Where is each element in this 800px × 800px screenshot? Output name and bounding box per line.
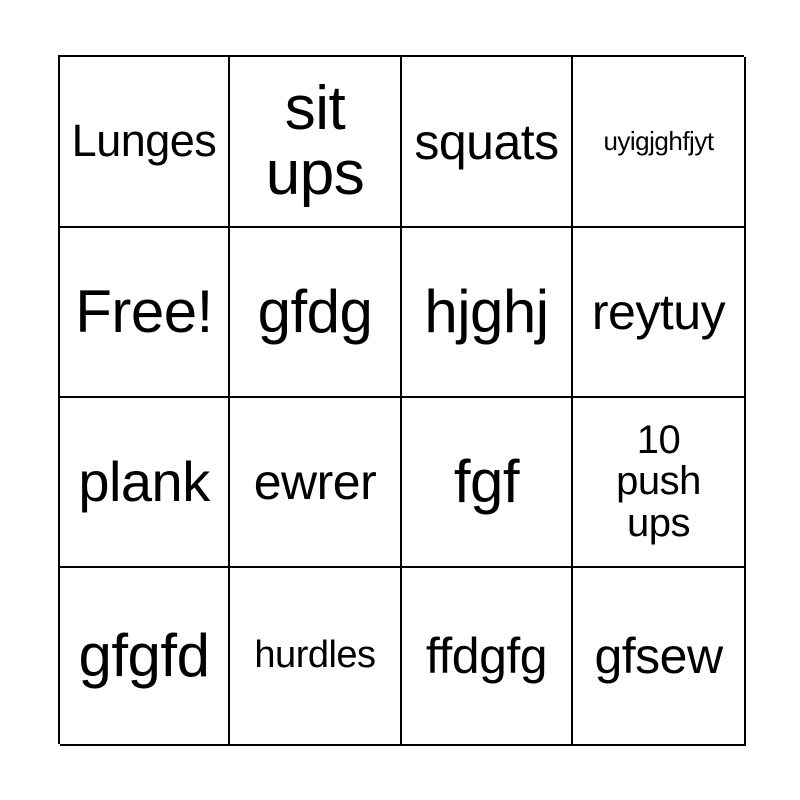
bingo-cell[interactable]: Lunges xyxy=(60,57,230,228)
bingo-cell-label: Free! xyxy=(60,281,228,343)
bingo-cell-label: hjghj xyxy=(402,281,571,343)
bingo-cell-label: ffdgfg xyxy=(402,630,571,682)
bingo-cell-label: gfsew xyxy=(573,630,744,682)
bingo-cell-free-space[interactable]: Free! xyxy=(60,228,230,398)
bingo-cell[interactable]: hjghj xyxy=(402,228,573,398)
bingo-cell-label: sit ups xyxy=(230,77,400,206)
bingo-cell-label: Lunges xyxy=(60,118,228,165)
bingo-cell-label: reytuy xyxy=(573,286,744,338)
bingo-cell[interactable]: hurdles xyxy=(230,568,402,746)
bingo-cell-label: 10 push ups xyxy=(573,420,744,545)
bingo-cell[interactable]: ewrer xyxy=(230,398,402,568)
bingo-cell-label: fgf xyxy=(402,451,571,513)
bingo-cell-label: ewrer xyxy=(230,456,400,508)
bingo-cell[interactable]: sit ups xyxy=(230,57,402,228)
bingo-cell-label: gfdg xyxy=(230,281,400,343)
bingo-cell-label: hurdles xyxy=(230,636,400,676)
bingo-cell[interactable]: squats xyxy=(402,57,573,228)
bingo-card-grid: Lunges sit ups squats uyigjghfjyt Free! … xyxy=(58,55,744,744)
bingo-cell[interactable]: gfgfd xyxy=(60,568,230,746)
bingo-cell-label: squats xyxy=(402,116,571,168)
bingo-cell[interactable]: plank xyxy=(60,398,230,568)
bingo-cell[interactable]: fgf xyxy=(402,398,573,568)
bingo-cell[interactable]: 10 push ups xyxy=(573,398,746,568)
bingo-cell[interactable]: reytuy xyxy=(573,228,746,398)
bingo-cell[interactable]: gfsew xyxy=(573,568,746,746)
bingo-cell[interactable]: gfdg xyxy=(230,228,402,398)
bingo-cell-label: plank xyxy=(60,453,228,511)
bingo-cell[interactable]: uyigjghfjyt xyxy=(573,57,746,228)
bingo-cell-label: uyigjghfjyt xyxy=(573,128,744,155)
bingo-cell-label: gfgfd xyxy=(60,625,228,687)
bingo-cell[interactable]: ffdgfg xyxy=(402,568,573,746)
